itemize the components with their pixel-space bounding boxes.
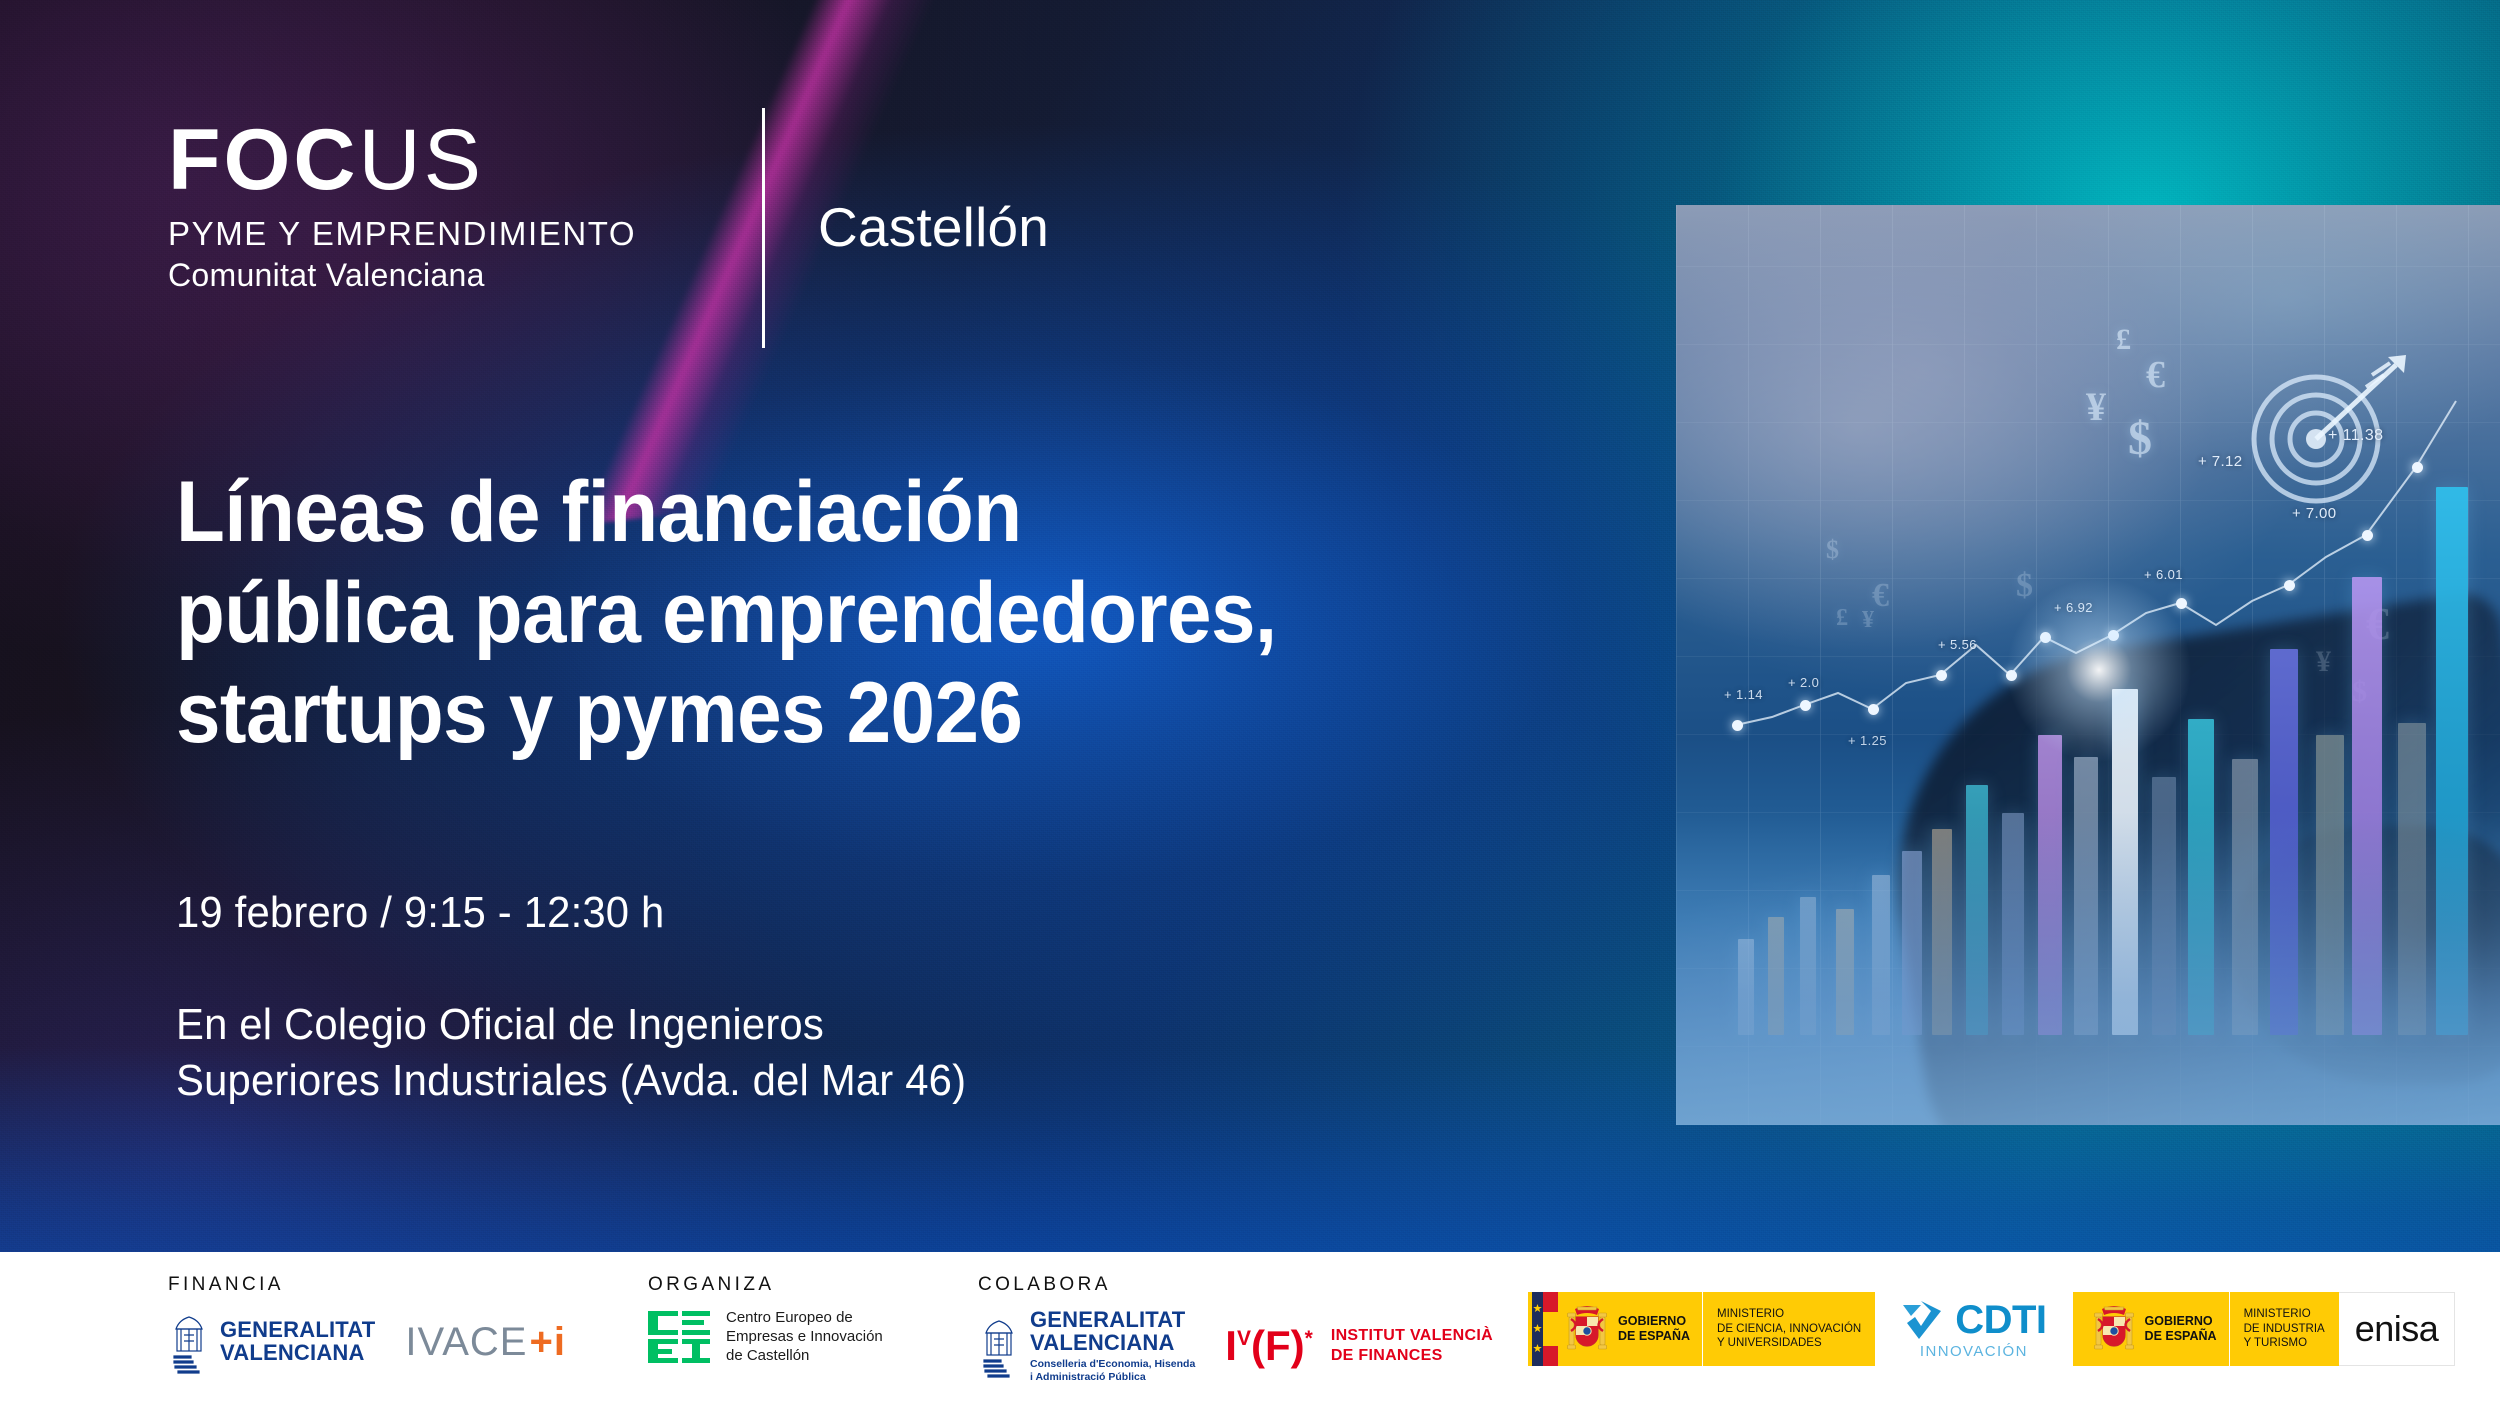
gobierno-line-2: DE ESPAÑA bbox=[2145, 1329, 2217, 1344]
ivf-star: * bbox=[1305, 1327, 1313, 1350]
focus-wordmark-bold: FOC bbox=[168, 112, 359, 208]
ceei-logo[interactable]: Centro Europeo de Empresas e Innovación … bbox=[648, 1309, 883, 1365]
gobierno-line-1: GOBIERNO bbox=[2145, 1314, 2217, 1329]
hero-image: £ € ¥ $ $ € £ ¥ $ € ¥ $ bbox=[1676, 205, 2500, 1125]
ministerio-industria-wordmark: MINISTERIO DE INDUSTRIA Y TURISMO bbox=[2230, 1292, 2339, 1366]
cdti-row: CDTI bbox=[1901, 1299, 2046, 1341]
headline-line-2: pública para emprendedores, bbox=[176, 563, 1590, 664]
city-name: Castellón bbox=[818, 195, 1049, 259]
enisa-block: enisa bbox=[2339, 1292, 2456, 1366]
focus-subtitle-secondary: Comunitat Valenciana bbox=[168, 257, 636, 294]
gobierno-espana-wordmark: GOBIERNO DE ESPAÑA bbox=[2145, 1314, 2229, 1344]
ministerio-line-2: DE INDUSTRIA bbox=[2244, 1322, 2325, 1336]
ministerio-line-3: Y UNIVERSIDADES bbox=[1717, 1336, 1861, 1350]
data-point bbox=[1868, 704, 1879, 715]
data-point bbox=[2362, 530, 2373, 541]
data-point bbox=[2108, 630, 2119, 641]
ivf-line-2: DE FINANCES bbox=[1331, 1346, 1493, 1366]
cdti-arrow-check-icon bbox=[1901, 1299, 1947, 1341]
data-label: + 11.38 bbox=[2328, 427, 2383, 445]
ivf-i: I bbox=[1225, 1322, 1237, 1369]
data-point bbox=[1936, 670, 1947, 681]
data-label: + 7.00 bbox=[2292, 505, 2337, 522]
ministerio-ciencia-logo[interactable]: GOBIERNO DE ESPAÑA MINISTERIO DE CIENCIA… bbox=[1528, 1292, 1875, 1366]
ministerio-line-2: DE CIENCIA, INNOVACIÓN bbox=[1717, 1322, 1861, 1336]
spain-flag-icon bbox=[1532, 1292, 1558, 1366]
colabora-group: COLABORA bbox=[978, 1274, 1493, 1383]
ivf-f: F bbox=[1265, 1322, 1291, 1369]
ceei-line-3: de Castellón bbox=[726, 1347, 883, 1366]
ivace-logo[interactable]: IVACE+i bbox=[405, 1320, 566, 1365]
generalitat-line-2: VALENCIANA bbox=[1030, 1332, 1195, 1355]
generalitat-crest-icon bbox=[978, 1313, 1020, 1379]
ministerio-line-3: Y TURISMO bbox=[2244, 1336, 2325, 1350]
cdti-logo[interactable]: CDTI INNOVACIÓN bbox=[1901, 1299, 2046, 1360]
data-label: + 2.0 bbox=[1788, 675, 1819, 690]
ivace-plus-i: +i bbox=[529, 1320, 565, 1365]
generalitat-line-2: VALENCIANA bbox=[220, 1342, 375, 1365]
ivf-paren-close: ) bbox=[1291, 1322, 1305, 1369]
focus-wordmark-light: US bbox=[359, 112, 484, 208]
data-label: + 6.01 bbox=[2144, 567, 2183, 582]
conselleria-line-2: i Administració Pública bbox=[1030, 1371, 1195, 1384]
spain-coat-of-arms-icon bbox=[2091, 1301, 2137, 1357]
page-title: Líneas de financiación pública para empr… bbox=[176, 462, 1590, 764]
data-label: + 1.25 bbox=[1848, 733, 1887, 748]
financia-group: FINANCIA GE bbox=[168, 1274, 566, 1375]
colabora-label: COLABORA bbox=[978, 1274, 1493, 1296]
event-venue: En el Colegio Oficial de Ingenieros Supe… bbox=[176, 997, 966, 1110]
focus-subtitle-primary: PYME Y EMPRENDIMIENTO bbox=[168, 215, 636, 253]
data-label: + 7.12 bbox=[2198, 453, 2243, 470]
data-point bbox=[2176, 598, 2187, 609]
conselleria-sub: Conselleria d'Economia, Hisenda i Admini… bbox=[1030, 1358, 1195, 1384]
data-label: + 5.56 bbox=[1938, 637, 1977, 652]
header-divider bbox=[762, 108, 765, 348]
ivf-logo[interactable]: IV(F)* INSTITUT VALENCIÀ DE FINANCES bbox=[1225, 1325, 1493, 1367]
data-point bbox=[1800, 700, 1811, 711]
data-point bbox=[1732, 720, 1743, 731]
ceei-line-1: Centro Europeo de bbox=[726, 1309, 883, 1328]
focus-wordmark: FOCUS bbox=[168, 118, 636, 202]
conselleria-line-1: Conselleria d'Economia, Hisenda bbox=[1030, 1358, 1195, 1371]
generalitat-line-1: GENERALITAT bbox=[1030, 1309, 1195, 1332]
hero-floor-gradient bbox=[1676, 812, 2500, 1125]
sponsor-footer: FINANCIA GE bbox=[0, 1252, 2500, 1406]
data-point bbox=[2412, 462, 2423, 473]
financia-label: FINANCIA bbox=[168, 1274, 566, 1296]
spain-coat-of-arms-icon bbox=[1564, 1301, 1610, 1357]
ministerio-line-1: MINISTERIO bbox=[2244, 1307, 2325, 1321]
generalitat-valenciana-logo[interactable]: GENERALITAT VALENCIANA bbox=[168, 1309, 375, 1375]
ministerio-line-1: MINISTERIO bbox=[1717, 1307, 1861, 1321]
cdti-wordmark: CDTI bbox=[1955, 1300, 2046, 1340]
ivf-v: V bbox=[1237, 1327, 1251, 1350]
generalitat-wordmark: GENERALITAT VALENCIANA bbox=[220, 1319, 375, 1365]
gobierno-espana-block: GOBIERNO DE ESPAÑA bbox=[2073, 1292, 2229, 1366]
partner-logos: GOBIERNO DE ESPAÑA MINISTERIO DE CIENCIA… bbox=[1528, 1292, 2455, 1366]
event-poster: £ € ¥ $ $ € £ ¥ $ € ¥ $ bbox=[0, 0, 2500, 1406]
gobierno-espana-wordmark: GOBIERNO DE ESPAÑA bbox=[1618, 1314, 1702, 1344]
headline-line-1: Líneas de financiación bbox=[176, 462, 1590, 563]
enisa-wordmark: enisa bbox=[2355, 1308, 2439, 1350]
data-point bbox=[2040, 632, 2051, 643]
ministerio-ciencia-wordmark: MINISTERIO DE CIENCIA, INNOVACIÓN Y UNIV… bbox=[1703, 1292, 1875, 1366]
colabora-logos: GENERALITAT VALENCIANA Conselleria d'Eco… bbox=[978, 1309, 1493, 1383]
generalitat-line-1: GENERALITAT bbox=[220, 1319, 375, 1342]
cdti-subtitle: INNOVACIÓN bbox=[1920, 1343, 2028, 1360]
generalitat-conselleria-logo[interactable]: GENERALITAT VALENCIANA Conselleria d'Eco… bbox=[978, 1309, 1195, 1383]
data-label: + 1.14 bbox=[1724, 687, 1763, 702]
venue-line-2: Superiores Industriales (Avda. del Mar 4… bbox=[176, 1053, 966, 1109]
focus-logo: FOCUS PYME Y EMPRENDIMIENTO Comunitat Va… bbox=[168, 118, 636, 294]
partner-logo-row: GOBIERNO DE ESPAÑA MINISTERIO DE CIENCIA… bbox=[1528, 1292, 2455, 1366]
generalitat-crest-icon bbox=[168, 1309, 210, 1375]
ivf-wordmark: INSTITUT VALENCIÀ DE FINANCES bbox=[1331, 1326, 1493, 1367]
data-point bbox=[2284, 580, 2295, 591]
ivf-line-1: INSTITUT VALENCIÀ bbox=[1331, 1326, 1493, 1346]
gobierno-line-1: GOBIERNO bbox=[1618, 1314, 1690, 1329]
ivace-wordmark: IVACE bbox=[405, 1320, 527, 1365]
data-point bbox=[2006, 670, 2017, 681]
venue-line-1: En el Colegio Oficial de Ingenieros bbox=[176, 997, 966, 1053]
ceei-mark-icon bbox=[648, 1311, 712, 1363]
ivf-paren-open: ( bbox=[1251, 1322, 1265, 1369]
ceei-wordmark: Centro Europeo de Empresas e Innovación … bbox=[726, 1309, 883, 1365]
ivf-mark: IV(F)* bbox=[1225, 1325, 1313, 1367]
event-datetime: 19 febrero / 9:15 - 12:30 h bbox=[176, 888, 664, 938]
ceei-line-2: Empresas e Innovación bbox=[726, 1328, 883, 1347]
gobierno-line-2: DE ESPAÑA bbox=[1618, 1329, 1690, 1344]
organiza-label: ORGANIZA bbox=[648, 1274, 883, 1296]
organiza-group: ORGANIZA bbox=[648, 1274, 883, 1365]
headline-line-3: startups y pymes 2026 bbox=[176, 663, 1590, 764]
gobierno-espana-block: GOBIERNO DE ESPAÑA bbox=[1528, 1292, 1702, 1366]
generalitat-conselleria-wordmark: GENERALITAT VALENCIANA Conselleria d'Eco… bbox=[1030, 1309, 1195, 1383]
financia-logos: GENERALITAT VALENCIANA IVACE+i bbox=[168, 1309, 566, 1375]
data-label: + 6.92 bbox=[2054, 600, 2093, 615]
ministerio-industria-enisa-logo[interactable]: GOBIERNO DE ESPAÑA MINISTERIO DE INDUSTR… bbox=[2073, 1292, 2456, 1366]
